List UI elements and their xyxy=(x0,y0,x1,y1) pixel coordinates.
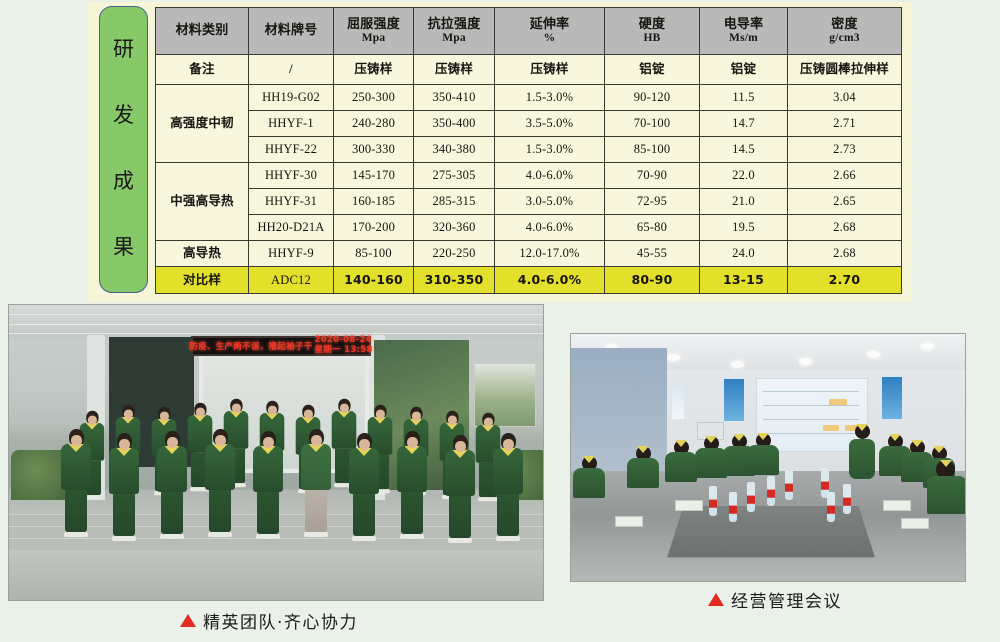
col-header-hardness-cn: 硬度 xyxy=(606,17,698,32)
col-header-conductivity-unit: Ms/m xyxy=(701,32,786,46)
cell-density: 2.65 xyxy=(788,189,902,215)
cell-hardness: 72-95 xyxy=(605,189,700,215)
cell-tensile: 310-350 xyxy=(414,267,495,294)
cell-grade: HHYF-22 xyxy=(249,137,334,163)
note-cell-tensile: 压铸样 xyxy=(414,55,495,85)
note-cell-hardness: 铝锭 xyxy=(605,55,700,85)
led-banner-text: 防疫、生产两不误，撸起袖子干 xyxy=(189,340,312,352)
staff-member xyxy=(109,433,139,541)
col-header-grade-cn: 材料牌号 xyxy=(250,23,332,38)
cell-grade: HHYF-30 xyxy=(249,163,334,189)
cell-grade: ADC12 xyxy=(249,267,334,294)
caption-team-text: 精英团队·齐心协力 xyxy=(203,608,358,633)
vertical-label-char-3: 成 xyxy=(113,171,134,192)
triangle-marker-icon xyxy=(180,614,196,627)
table-note-row: 备注 / 压铸样 压铸样 压铸样 铝锭 铝锭 压铸圆棒拉伸样 xyxy=(156,55,902,85)
note-cell-density: 压铸圆棒拉伸样 xyxy=(788,55,902,85)
cell-yield: 250-300 xyxy=(334,85,414,111)
col-header-hardness: 硬度 HB xyxy=(605,8,700,55)
col-header-elongation-cn: 延伸率 xyxy=(496,17,603,32)
cell-elongation: 4.0-6.0% xyxy=(495,163,605,189)
management-meeting-photo xyxy=(570,333,966,582)
cell-density: 2.70 xyxy=(788,267,902,294)
cell-elongation: 3.0-5.0% xyxy=(495,189,605,215)
staff-member xyxy=(445,435,475,543)
col-header-density-cn: 密度 xyxy=(789,17,900,32)
meeting-attendee xyxy=(573,456,605,498)
col-header-conductivity: 电导率 Ms/m xyxy=(700,8,788,55)
cell-hardness: 80-90 xyxy=(605,267,700,294)
vertical-label-char-2: 发 xyxy=(113,105,134,126)
cell-conductivity: 13-15 xyxy=(700,267,788,294)
cell-hardness: 90-120 xyxy=(605,85,700,111)
cell-density: 2.68 xyxy=(788,241,902,267)
staff-member xyxy=(397,431,427,539)
cell-density: 2.71 xyxy=(788,111,902,137)
staff-member xyxy=(61,429,91,537)
cell-density: 2.73 xyxy=(788,137,902,163)
cell-tensile: 340-380 xyxy=(414,137,495,163)
table-row: 中强高导热 HHYF-30 145-170 275-305 4.0-6.0% 7… xyxy=(156,163,902,189)
cell-conductivity: 14.7 xyxy=(700,111,788,137)
caption-meeting-text: 经营管理会议 xyxy=(731,587,842,612)
canopy-ceiling xyxy=(9,305,543,339)
cell-grade: HHYF-1 xyxy=(249,111,334,137)
cell-elongation: 12.0-17.0% xyxy=(495,241,605,267)
table-row: 高导热 HHYF-9 85-100 220-250 12.0-17.0% 45-… xyxy=(156,241,902,267)
row-category: 高导热 xyxy=(156,241,249,267)
col-header-density-unit: g/cm3 xyxy=(789,32,900,46)
cell-grade: HH20-D21A xyxy=(249,215,334,241)
cell-hardness: 65-80 xyxy=(605,215,700,241)
cell-elongation: 1.5-3.0% xyxy=(495,137,605,163)
wall-notice xyxy=(671,384,685,420)
col-header-conductivity-cn: 电导率 xyxy=(701,17,786,32)
vertical-label-char-4: 果 xyxy=(113,237,134,258)
col-header-yield-unit: Mpa xyxy=(335,32,412,46)
cell-tensile: 275-305 xyxy=(414,163,495,189)
col-header-grade: 材料牌号 xyxy=(249,8,334,55)
note-cell-grade: / xyxy=(249,55,334,85)
meeting-attendee xyxy=(665,440,697,482)
col-header-tensile-cn: 抗拉强度 xyxy=(415,17,493,32)
note-cell-yield: 压铸样 xyxy=(334,55,414,85)
cell-tensile: 285-315 xyxy=(414,189,495,215)
meeting-attendee xyxy=(747,433,779,475)
table-header-row: 材料类别 材料牌号 屈服强度 Mpa 抗拉强度 Mpa 延伸率 % 硬度 HB xyxy=(156,8,902,55)
staff-member xyxy=(349,433,379,541)
cell-conductivity: 11.5 xyxy=(700,85,788,111)
cell-density: 2.66 xyxy=(788,163,902,189)
table-row: 高强度中韧 HH19-G02 250-300 350-410 1.5-3.0% … xyxy=(156,85,902,111)
meeting-attendee xyxy=(627,446,659,488)
note-cell-conductivity: 铝锭 xyxy=(700,55,788,85)
col-header-tensile-strength: 抗拉强度 Mpa xyxy=(414,8,495,55)
table-row: HH20-D21A 170-200 320-360 4.0-6.0% 65-80… xyxy=(156,215,902,241)
col-header-category: 材料类别 xyxy=(156,8,249,55)
wall-banner-right xyxy=(881,376,903,420)
presenter xyxy=(849,424,875,479)
cell-conductivity: 14.5 xyxy=(700,137,788,163)
cell-grade: HHYF-31 xyxy=(249,189,334,215)
triangle-marker-icon xyxy=(708,593,724,606)
cell-yield: 170-200 xyxy=(334,215,414,241)
staff-member xyxy=(157,431,187,539)
col-header-yield-cn: 屈服强度 xyxy=(335,17,412,32)
cell-tensile: 350-400 xyxy=(414,111,495,137)
cell-elongation: 3.5-5.0% xyxy=(495,111,605,137)
table-row: HHYF-22 300-330 340-380 1.5-3.0% 85-100 … xyxy=(156,137,902,163)
col-header-tensile-unit: Mpa xyxy=(415,32,493,46)
material-spec-table: 材料类别 材料牌号 屈服强度 Mpa 抗拉强度 Mpa 延伸率 % 硬度 HB xyxy=(155,7,902,294)
cell-hardness: 45-55 xyxy=(605,241,700,267)
vertical-label-char-1: 研 xyxy=(113,39,134,60)
cell-yield: 145-170 xyxy=(334,163,414,189)
staff-member xyxy=(493,433,523,541)
cell-grade: HHYF-9 xyxy=(249,241,334,267)
cell-density: 2.68 xyxy=(788,215,902,241)
cell-grade: HH19-G02 xyxy=(249,85,334,111)
cell-hardness: 85-100 xyxy=(605,137,700,163)
col-header-category-cn: 材料类别 xyxy=(157,23,247,38)
table-row: HHYF-31 160-185 285-315 3.0-5.0% 72-95 2… xyxy=(156,189,902,215)
cell-hardness: 70-100 xyxy=(605,111,700,137)
meeting-attendee xyxy=(927,460,966,514)
cell-elongation: 1.5-3.0% xyxy=(495,85,605,111)
cell-yield: 85-100 xyxy=(334,241,414,267)
cell-elongation: 4.0-6.0% xyxy=(495,267,605,294)
staff-member xyxy=(301,429,331,537)
cell-tensile: 320-360 xyxy=(414,215,495,241)
cell-yield: 140-160 xyxy=(334,267,414,294)
cell-yield: 300-330 xyxy=(334,137,414,163)
col-header-hardness-unit: HB xyxy=(606,32,698,46)
wall-banner-left xyxy=(723,378,745,422)
led-banner-time: 星期一 13:58 xyxy=(315,346,373,356)
cell-hardness: 70-90 xyxy=(605,163,700,189)
cell-conductivity: 22.0 xyxy=(700,163,788,189)
row-category: 高强度中韧 xyxy=(156,85,249,163)
caption-meeting: 经营管理会议 xyxy=(708,587,842,612)
row-category: 对比样 xyxy=(156,267,249,294)
team-group-photo: 防疫、生产两不误，撸起袖子干 2020-08-24 星期一 13:58 xyxy=(8,304,544,601)
table-row: HHYF-1 240-280 350-400 3.5-5.0% 70-100 1… xyxy=(156,111,902,137)
cell-tensile: 350-410 xyxy=(414,85,495,111)
led-banner: 防疫、生产两不误，撸起袖子干 2020-08-24 星期一 13:58 xyxy=(191,336,371,356)
staff-member xyxy=(253,431,283,539)
cell-elongation: 4.0-6.0% xyxy=(495,215,605,241)
note-cell-elongation: 压铸样 xyxy=(495,55,605,85)
cell-conductivity: 19.5 xyxy=(700,215,788,241)
caption-team: 精英团队·齐心协力 xyxy=(180,608,358,633)
col-header-yield-strength: 屈服强度 Mpa xyxy=(334,8,414,55)
section-vertical-label: 研 发 成 果 xyxy=(99,6,148,293)
col-header-elongation: 延伸率 % xyxy=(495,8,605,55)
cell-tensile: 220-250 xyxy=(414,241,495,267)
row-category: 中强高导热 xyxy=(156,163,249,241)
cell-yield: 160-185 xyxy=(334,189,414,215)
note-cell-label: 备注 xyxy=(156,55,249,85)
col-header-elongation-unit: % xyxy=(496,32,603,46)
cell-yield: 240-280 xyxy=(334,111,414,137)
cell-density: 3.04 xyxy=(788,85,902,111)
staff-member xyxy=(205,429,235,537)
cell-conductivity: 21.0 xyxy=(700,189,788,215)
cell-conductivity: 24.0 xyxy=(700,241,788,267)
col-header-density: 密度 g/cm3 xyxy=(788,8,902,55)
table-row-highlighted: 对比样 ADC12 140-160 310-350 4.0-6.0% 80-90… xyxy=(156,267,902,294)
